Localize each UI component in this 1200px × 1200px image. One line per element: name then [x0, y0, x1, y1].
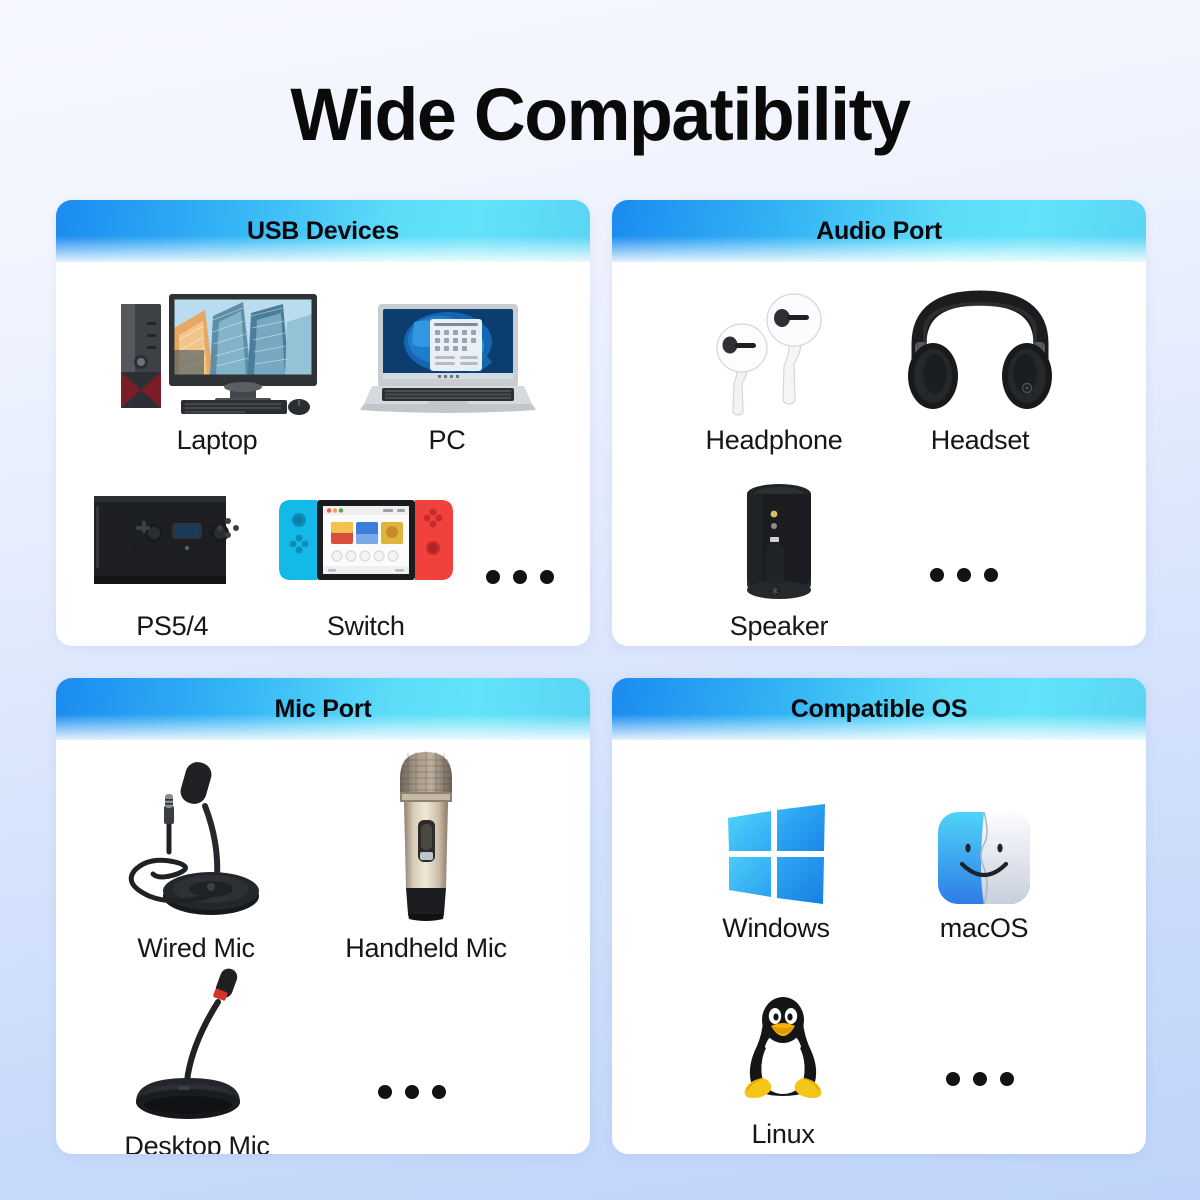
card-row: PS5/4 [56, 454, 590, 646]
bluetooth-speaker-icon [726, 478, 832, 602]
card-row: Linux [612, 952, 1146, 1154]
card-header-mic-port: Mic Port [56, 678, 590, 740]
card-body-audio-port: Headphone [612, 262, 1146, 646]
item-wired-mic[interactable]: Wired Mic [86, 756, 306, 962]
item-label: Laptop [177, 426, 258, 454]
item-macos[interactable]: macOS [880, 812, 1088, 942]
item-label: Speaker [730, 612, 828, 640]
card-row: Desktop Mic [56, 962, 590, 1154]
item-label: macOS [940, 914, 1029, 942]
card-body-mic-port: Wired Mic [56, 740, 590, 1154]
item-switch[interactable]: Switch [266, 490, 464, 640]
card-row: Laptop [56, 268, 590, 454]
card-row: Wired Mic [56, 746, 590, 962]
item-speaker[interactable]: Speaker [684, 478, 874, 640]
page-title: Wide Compatibility [18, 78, 1182, 152]
item-label: Desktop Mic [124, 1132, 269, 1154]
card-body-compatible-os: Windows [612, 740, 1146, 1154]
compatibility-infographic: Wide Compatibility USB Devices [0, 0, 1200, 1200]
card-body-usb-devices: Laptop [56, 262, 590, 646]
card-header-audio-port: Audio Port [612, 200, 1146, 262]
earbuds-icon [694, 286, 854, 416]
over-ear-headphones-icon [905, 288, 1055, 416]
item-label: PS5/4 [136, 612, 208, 640]
item-label: Wired Mic [137, 934, 254, 962]
more-items-indicator [880, 1072, 1080, 1148]
card-compatible-os: Compatible OS [612, 678, 1146, 1154]
item-laptop[interactable]: Laptop [102, 288, 332, 454]
item-label: Windows [722, 914, 829, 942]
item-desktop-mic[interactable]: Desktop Mic [82, 962, 312, 1154]
wired-gooseneck-mic-icon [101, 756, 291, 924]
handheld-mic-icon [382, 746, 470, 924]
linux-tux-penguin-icon [733, 994, 833, 1110]
card-header-title: USB Devices [247, 217, 399, 246]
item-headphone[interactable]: Headphone [668, 286, 880, 454]
card-mic-port: Mic Port [56, 678, 590, 1154]
more-items-indicator [874, 568, 1054, 640]
item-windows[interactable]: Windows [672, 804, 880, 942]
laptop-icon [352, 296, 542, 416]
windows-logo-icon [724, 804, 828, 904]
card-header-usb-devices: USB Devices [56, 200, 590, 262]
card-usb-devices: USB Devices [56, 200, 590, 646]
card-row: Speaker [612, 454, 1146, 646]
card-row: Windows [612, 746, 1146, 952]
ellipsis-icon [930, 568, 998, 582]
desktop-pc-monitor-icon [117, 288, 317, 416]
item-linux[interactable]: Linux [686, 994, 880, 1148]
ellipsis-icon [486, 570, 554, 584]
item-label: Switch [327, 612, 405, 640]
card-header-title: Mic Port [274, 695, 371, 724]
card-header-title: Audio Port [816, 217, 942, 246]
ellipsis-icon [378, 1085, 446, 1099]
item-ps54[interactable]: PS5/4 [78, 486, 266, 640]
macos-finder-icon [938, 812, 1030, 904]
desktop-gooseneck-mic-icon [122, 962, 272, 1122]
card-row: Headphone [612, 268, 1146, 454]
playstation-console-icon [82, 486, 262, 602]
item-label: Headphone [706, 426, 843, 454]
item-label: Linux [751, 1120, 814, 1148]
nintendo-switch-icon [271, 490, 461, 602]
more-items-indicator [465, 570, 576, 640]
compatibility-card-grid: USB Devices [56, 200, 1146, 1154]
item-label: Headset [931, 426, 1029, 454]
card-header-compatible-os: Compatible OS [612, 678, 1146, 740]
card-audio-port: Audio Port [612, 200, 1146, 646]
item-label: Handheld Mic [345, 934, 507, 962]
ellipsis-icon [946, 1072, 1014, 1086]
item-handheld-mic[interactable]: Handheld Mic [306, 746, 546, 962]
more-items-indicator [312, 1085, 512, 1154]
item-headset[interactable]: Headset [880, 288, 1080, 454]
item-label: PC [429, 426, 466, 454]
card-header-title: Compatible OS [791, 695, 968, 724]
item-pc[interactable]: PC [332, 296, 562, 454]
